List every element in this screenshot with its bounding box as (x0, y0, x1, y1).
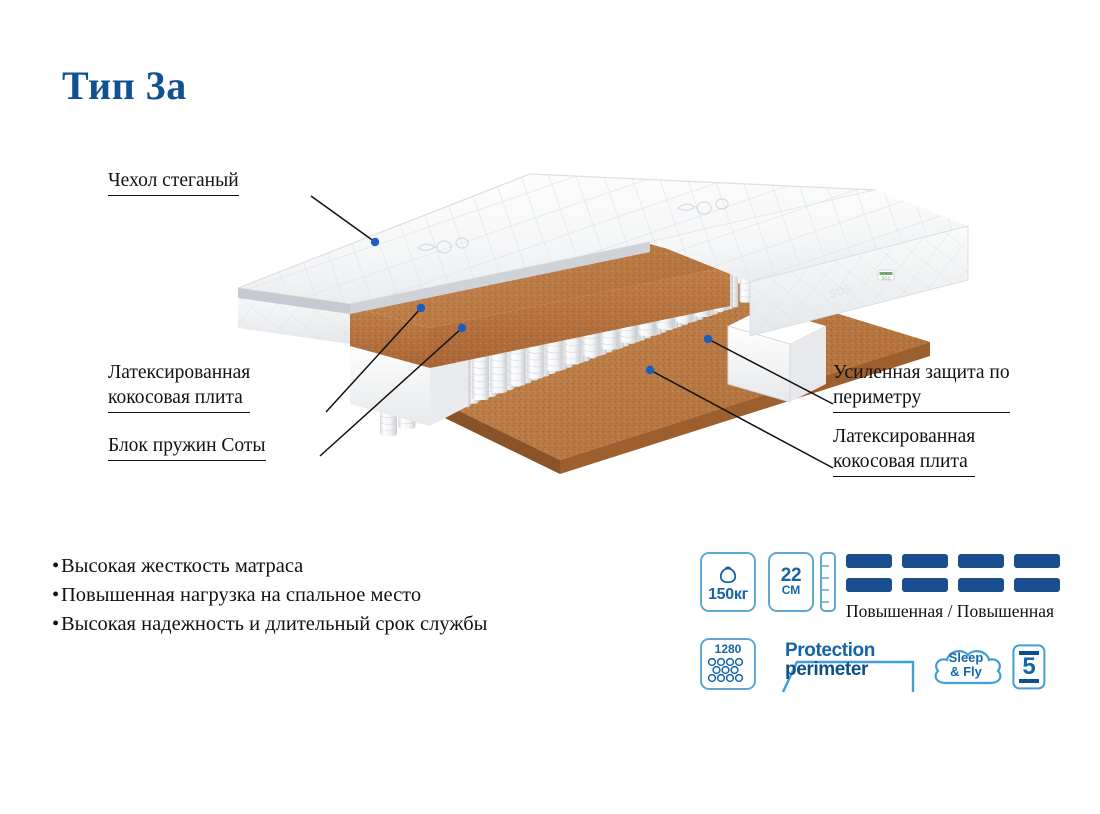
protection-line2: perimeter (785, 660, 875, 679)
firmness-bar-top-1 (846, 554, 892, 568)
firmness-bar-top-4 (1014, 554, 1060, 568)
bullet-text: Высокая жесткость матраса (61, 555, 303, 577)
firmness-bar-bottom-2 (902, 578, 948, 592)
brand-line1: Sleep (930, 651, 1002, 665)
callout-perimeter: Усиленная защита по периметру (833, 360, 1010, 413)
callout-cover: Чехол стеганый (108, 168, 239, 196)
callout-springs-line1: Блок пружин Соты (108, 433, 266, 461)
callout-latex-right-line2: кокосовая плита (833, 449, 975, 477)
sgs-tag: SGS (878, 270, 894, 281)
bullet-text: Повышенная нагрузка на спальное место (61, 584, 421, 606)
brand-logo-sleep-and-fly: Sleep & Fly (930, 643, 1002, 689)
feature-bullet-list: •Высокая жесткость матраса •Повышенная н… (52, 552, 487, 639)
bullet-item: •Высокая жесткость матраса (52, 552, 487, 581)
page-title: Тип 3а (62, 62, 187, 109)
bullet-marker: • (52, 610, 61, 639)
firmness-bar-top-2 (902, 554, 948, 568)
badge-max-weight: 150кг (700, 552, 756, 612)
callout-perimeter-line2: периметру (833, 385, 1010, 413)
firmness-bars (846, 554, 1062, 600)
firmness-bar-top-3 (958, 554, 1004, 568)
firmness-bar-bottom-3 (958, 578, 1004, 592)
honeycomb-springs-icon (706, 656, 750, 686)
svg-text:SGS: SGS (881, 276, 890, 281)
badge-spring-count-value: 1280 (715, 643, 742, 656)
ruler-icon (820, 552, 836, 612)
callout-latex-left-line1: Латексированная (108, 360, 250, 385)
mattress-spec-page: Тип 3а (0, 0, 1100, 814)
brand-text: Sleep & Fly (930, 651, 1002, 679)
badge-height-value: 22 (781, 568, 802, 584)
firmness-bar-bottom-1 (846, 578, 892, 592)
kettlebell-icon (715, 561, 741, 587)
protection-perimeter-text: Protection perimeter (785, 641, 875, 679)
callout-latex-right: Латексированная кокосовая плита (833, 424, 975, 477)
callout-perimeter-line1: Усиленная защита по (833, 360, 1010, 385)
bullet-text: Высокая надежность и длительный срок слу… (61, 613, 487, 635)
callout-latex-right-line1: Латексированная (833, 424, 975, 449)
badge-max-weight-value: 150кг (708, 587, 748, 603)
callout-springs: Блок пружин Соты (108, 433, 266, 461)
firmness-label: Повышенная / Повышенная (846, 601, 1054, 622)
firmness-bar-bottom-4 (1014, 578, 1060, 592)
protection-line1: Protection (785, 641, 875, 660)
bullet-marker: • (52, 581, 61, 610)
brand-line2: & Fly (930, 665, 1002, 679)
badge-height: 22 СМ (768, 552, 814, 612)
bullet-item: •Повышенная нагрузка на спальное место (52, 581, 487, 610)
badge-height-unit: СМ (782, 584, 801, 597)
callout-latex-left: Латексированная кокосовая плита (108, 360, 250, 413)
callout-latex-left-line2: кокосовая плита (108, 385, 250, 413)
callout-cover-line1: Чехол стеганый (108, 168, 239, 196)
bullet-item: •Высокая надежность и длительный срок сл… (52, 610, 487, 639)
badge-spring-count: 1280 (700, 638, 756, 690)
warranty-years-value: 5 (1012, 654, 1046, 680)
badge-warranty-years: 5 (1012, 644, 1046, 690)
bullet-marker: • (52, 552, 61, 581)
